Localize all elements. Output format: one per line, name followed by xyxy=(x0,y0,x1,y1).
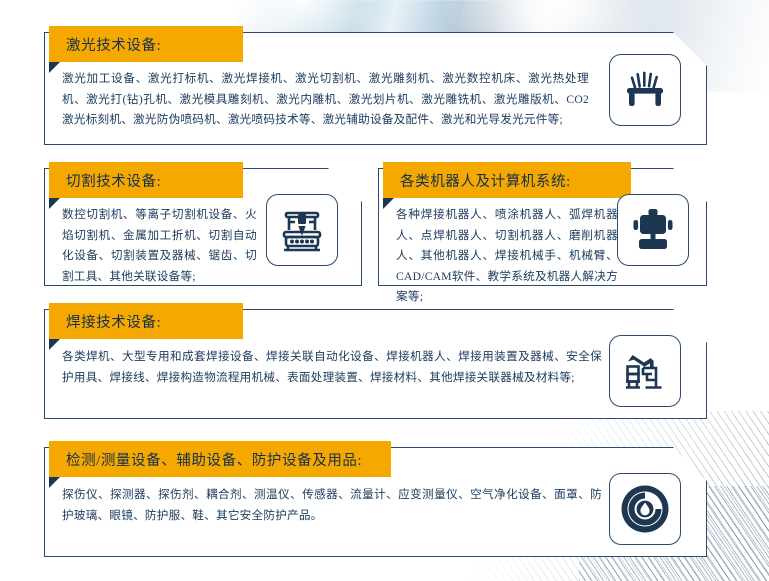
card-inspection: 检测/测量设备、辅助设备、防护设备及用品: 探伤仪、探测器、探伤剂、耦合剂、测温… xyxy=(44,447,707,557)
card-cutting-body: 数控切割机、等离子切割机设备、火焰切割机、金属加工折机、切割自动化设备、切割装置… xyxy=(62,205,257,287)
cnc-cutting-machine-icon xyxy=(266,194,338,266)
card-welding-header: 焊接技术设备: xyxy=(49,303,243,339)
target-detector-icon xyxy=(609,473,681,545)
card-robots: 各类机器人及计算机系统: 各种焊接机器人、喷涂机器人、弧焊机器人、点焊机器人、切… xyxy=(378,168,707,286)
card-robots-title: 各类机器人及计算机系统: xyxy=(400,170,571,191)
card-welding-body: 各类焊机、大型专用和成套焊接设备、焊接关联自动化设备、焊接机器人、焊接用装置及器… xyxy=(62,347,602,388)
card-robots-body: 各种焊接机器人、喷涂机器人、弧焊机器人、点焊机器人、切割机器人、磨削机器人、其他… xyxy=(396,205,618,308)
card-welding-notch xyxy=(49,339,60,350)
welding-robot-arm-icon xyxy=(609,335,681,407)
card-inspection-notch xyxy=(49,477,60,488)
card-laser: 激光技术设备: 激光加工设备、激光打标机、激光焊接机、激光切割机、激光雕刻机、激… xyxy=(44,32,707,145)
card-laser-notch xyxy=(49,62,60,73)
card-cutting-notch xyxy=(49,198,60,209)
laser-bench-icon xyxy=(609,54,681,126)
robot-icon xyxy=(617,194,689,266)
card-laser-title: 激光技术设备: xyxy=(66,34,161,55)
card-inspection-body: 探伤仪、探测器、探伤剂、耦合剂、测温仪、传感器、流量计、应变测量仪、空气净化设备… xyxy=(62,485,602,526)
card-robots-header: 各类机器人及计算机系统: xyxy=(383,162,631,198)
card-welding-title: 焊接技术设备: xyxy=(66,311,161,332)
card-laser-header: 激光技术设备: xyxy=(49,26,243,62)
card-inspection-title: 检测/测量设备、辅助设备、防护设备及用品: xyxy=(66,449,362,470)
card-inspection-header: 检测/测量设备、辅助设备、防护设备及用品: xyxy=(49,441,391,477)
card-laser-body: 激光加工设备、激光打标机、激光焊接机、激光切割机、激光雕刻机、激光数控机床、激光… xyxy=(62,69,589,131)
card-welding: 焊接技术设备: 各类焊机、大型专用和成套焊接设备、焊接关联自动化设备、焊接机器人… xyxy=(44,309,707,419)
card-robots-notch xyxy=(383,198,394,209)
card-cutting: 切割技术设备: 数控切割机、等离子切割机设备、火焰切割机、金属加工折机、切割自动… xyxy=(44,168,362,286)
card-cutting-header: 切割技术设备: xyxy=(49,162,243,198)
card-cutting-title: 切割技术设备: xyxy=(66,170,161,191)
